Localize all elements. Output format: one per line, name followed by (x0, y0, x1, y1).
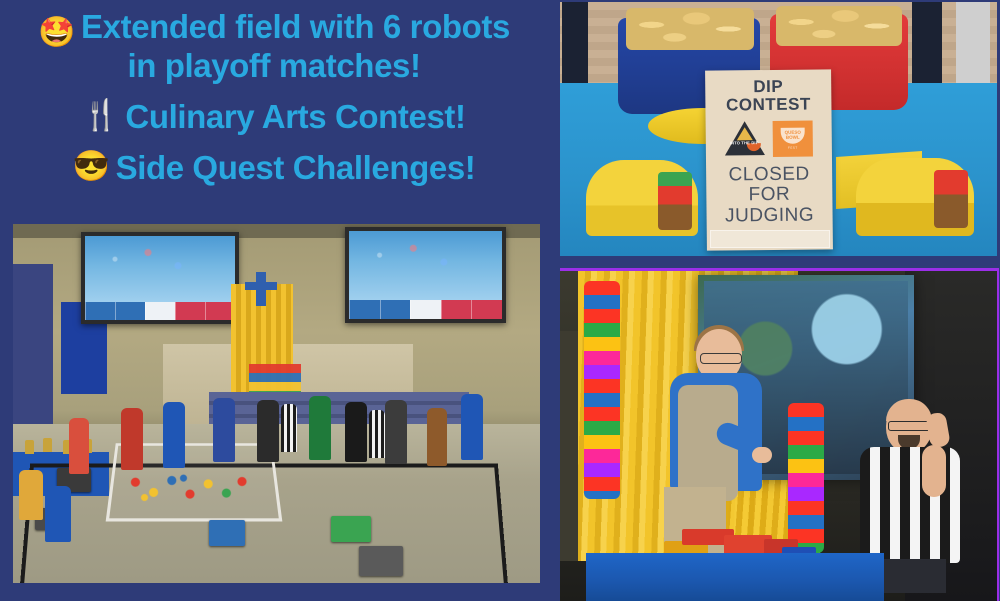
spectator (163, 402, 185, 468)
robot (331, 516, 371, 542)
scoreboard-bar-left (85, 302, 235, 320)
headline-line-1: 🤩Extended field with 6 robots in playoff… (24, 10, 524, 84)
referee-glasses (888, 421, 932, 431)
queso-bowl-logo-subtext: FEST (788, 145, 798, 149)
taco-filling (934, 170, 968, 228)
match-video-feed-left (85, 236, 235, 302)
logo-bowl-icon: QUESO BOWL (781, 127, 805, 143)
taco-filling (658, 172, 692, 230)
headline-block: 🤩Extended field with 6 robots in playoff… (0, 10, 548, 215)
queso-bowl-logo: QUESO BOWL FEST (773, 120, 813, 156)
headline-line-3: 😎 Side Quest Challenges! (73, 151, 476, 186)
match-video-feed-right (349, 231, 502, 300)
headline-line-2-text: Culinary Arts Contest! (125, 100, 465, 135)
sign-acrylic-stand (710, 230, 830, 248)
scoreboard-screen-right (345, 227, 506, 323)
queso-bowl-logo-text: QUESO BOWL (781, 130, 805, 140)
sign-logo-row: INTO THE DIP QUESO BOWL FEST (725, 120, 813, 157)
crowd-group (13, 374, 540, 494)
sign-status-line-2: FOR (748, 185, 790, 206)
referee (369, 410, 385, 458)
spectator (19, 470, 43, 520)
into-the-dip-logo-text: INTO THE DIP (730, 140, 759, 145)
photo-award-stage (560, 268, 999, 601)
match-timer-left (145, 302, 175, 320)
blue-alliance-detail-left (115, 302, 145, 320)
star-struck-emoji: 🤩 (38, 16, 75, 49)
robot (209, 520, 245, 546)
sign-status-line-1: CLOSED (728, 164, 809, 185)
match-timer-right (410, 300, 441, 319)
colorful-lei-garland (584, 281, 620, 499)
lego-taco-sculpture-left (586, 160, 698, 236)
sign-title-line-1: DIP (753, 78, 783, 96)
fork-and-knife-emoji: 🍴 (82, 100, 119, 132)
spectator (121, 408, 143, 470)
sunglasses-emoji: 😎 (73, 151, 110, 183)
red-alliance-score-right (441, 300, 472, 319)
presenter-hand (752, 447, 772, 463)
spectator (213, 398, 235, 462)
spectator (427, 408, 447, 466)
red-alliance-score-left (175, 302, 205, 320)
photo-competition-field (13, 224, 540, 583)
blue-alliance-score-left (85, 302, 115, 320)
spectator (461, 394, 483, 460)
referee (281, 404, 297, 452)
spectator (309, 396, 331, 460)
spectator (69, 418, 89, 474)
photo-dip-contest: DIP CONTEST INTO THE DIP QUESO BOWL FEST… (560, 2, 997, 256)
poster-canvas: 🤩Extended field with 6 robots in playoff… (0, 0, 1000, 600)
tortilla-chips (626, 8, 754, 50)
sign-status-line-3: JUDGING (725, 205, 814, 226)
scoreboard-screen-left (81, 232, 239, 324)
dip-contest-sign: DIP CONTEST INTO THE DIP QUESO BOWL FEST… (705, 69, 833, 250)
blue-alliance-detail-right (380, 300, 411, 319)
referee-arm (922, 445, 946, 497)
into-the-dip-logo: INTO THE DIP (725, 121, 765, 157)
blue-alliance-score-right (349, 300, 380, 319)
referee-thumbs-up-icon (925, 412, 951, 449)
headline-line-1-text-a: Extended field with 6 (81, 8, 401, 45)
spectator (257, 400, 279, 462)
spectator (385, 400, 407, 464)
robot (359, 546, 403, 576)
spectator (345, 402, 367, 462)
scoreboard-bar-right (349, 300, 502, 319)
presenter-glasses (700, 353, 742, 364)
logo-chip-icon (737, 127, 753, 140)
presenter-figure (652, 329, 770, 559)
tortilla-chips (776, 6, 902, 46)
headline-line-3-text: Side Quest Challenges! (116, 151, 476, 186)
stage-cross-emblem (256, 272, 266, 306)
spectator (45, 486, 71, 542)
sign-title-line-2: CONTEST (726, 95, 811, 114)
lego-taco-sculpture-right (856, 158, 974, 236)
headline-line-2: 🍴 Culinary Arts Contest! (82, 100, 465, 135)
red-alliance-detail-right (471, 300, 502, 319)
blue-draped-table (586, 553, 884, 601)
referee-pants (874, 559, 946, 593)
